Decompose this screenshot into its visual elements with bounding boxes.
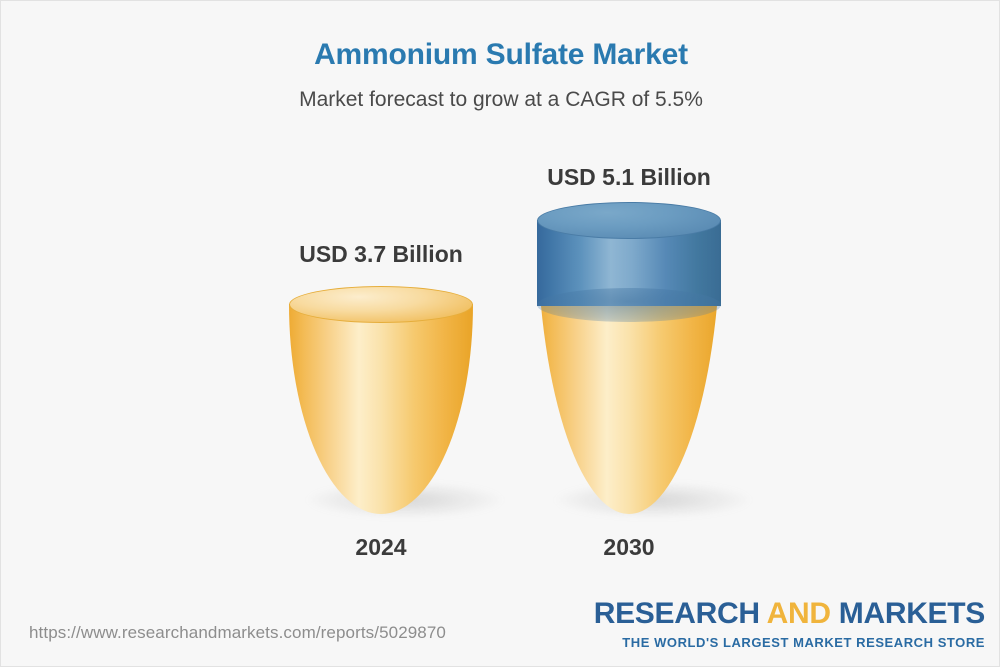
logo-word-markets: MARKETS <box>831 597 985 630</box>
cylinder-top-2030 <box>537 202 721 239</box>
bar-group-2030: USD 5.1 Billion 2030 <box>537 1 721 667</box>
category-label-2024: 2024 <box>289 534 473 561</box>
cylinder-2030[interactable] <box>537 202 721 514</box>
logo-tagline: THE WORLD'S LARGEST MARKET RESEARCH STOR… <box>594 636 985 649</box>
value-label-2030: USD 5.1 Billion <box>537 164 721 191</box>
cylinder-top-2024 <box>289 286 473 323</box>
source-url[interactable]: https://www.researchandmarkets.com/repor… <box>29 623 446 643</box>
value-label-2024: USD 3.7 Billion <box>289 241 473 268</box>
logo-wordmark: RESEARCH AND MARKETS <box>594 599 985 629</box>
bar-group-2024: USD 3.7 Billion 2024 <box>289 1 473 667</box>
logo-word-and: AND <box>767 597 831 630</box>
category-label-2030: 2030 <box>537 534 721 561</box>
cylinder-segment-seam-2030 <box>537 288 721 322</box>
cylinder-body-gold-2024 <box>289 304 473 514</box>
research-and-markets-logo[interactable]: RESEARCH AND MARKETS THE WORLD'S LARGEST… <box>594 599 985 649</box>
logo-word-research: RESEARCH <box>594 597 767 630</box>
cylinder-2024[interactable] <box>289 286 473 514</box>
plot-area: USD 3.7 Billion 2024 USD 5.1 Billion <box>1 1 1000 667</box>
chart-canvas: Ammonium Sulfate Market Market forecast … <box>0 0 1000 667</box>
